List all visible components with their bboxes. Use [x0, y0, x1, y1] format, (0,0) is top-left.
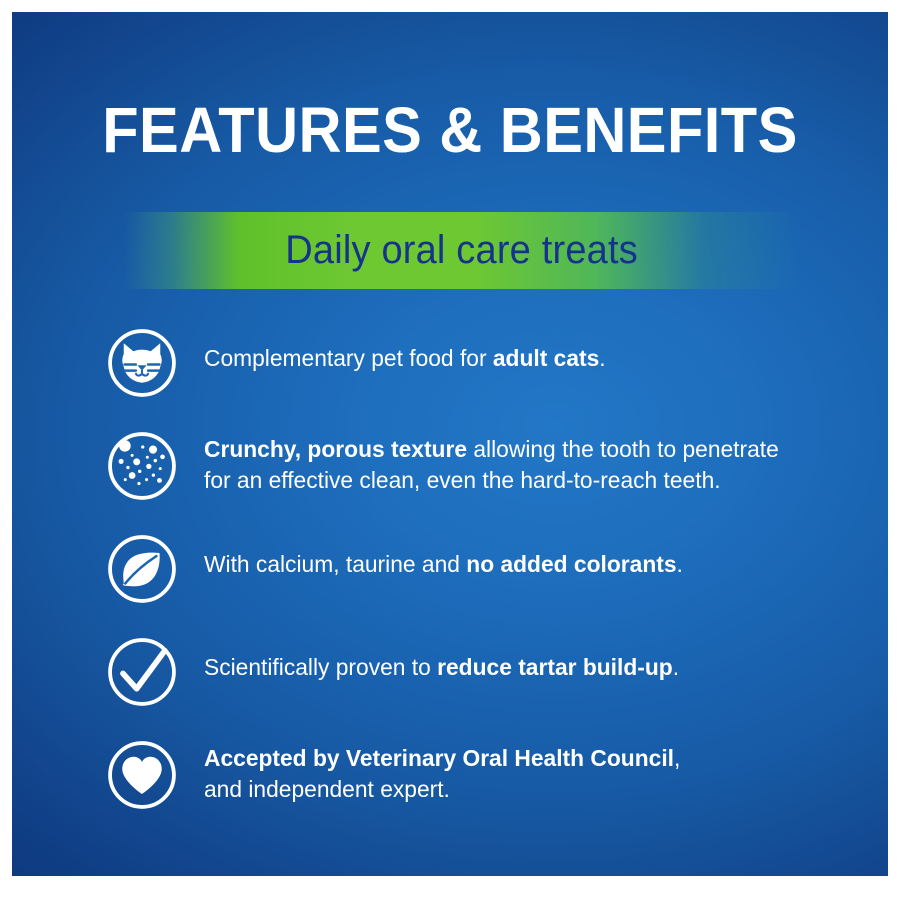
benefit-text-segment: and independent expert. [204, 776, 450, 802]
benefit-text: Scientifically proven to reduce tartar b… [204, 634, 679, 683]
leaf-icon [104, 531, 180, 607]
benefit-row: Complementary pet food for adult cats. [12, 325, 888, 401]
benefit-text-emphasis: Accepted by Veterinary Oral Health Counc… [204, 745, 674, 771]
benefit-text: With calcium, taurine and no added color… [204, 531, 683, 580]
subtitle-text: Daily oral care treats [286, 228, 639, 273]
benefit-text-line: Crunchy, porous texture allowing the too… [204, 434, 779, 465]
cat-face-icon [104, 325, 180, 401]
blue-panel-background: FEATURES & BENEFITS Daily oral care trea… [12, 12, 888, 876]
benefit-text-line: With calcium, taurine and no added color… [204, 549, 683, 580]
check-icon [104, 634, 180, 710]
benefit-row: Crunchy, porous texture allowing the too… [12, 428, 888, 504]
benefit-text-line: for an effective clean, even the hard-to… [204, 465, 779, 496]
benefit-text-segment: for an effective clean, even the hard-to… [204, 467, 721, 493]
benefit-text-emphasis: adult cats [493, 345, 599, 371]
page-title: FEATURES & BENEFITS [43, 98, 858, 162]
benefit-text-emphasis: reduce tartar build-up [437, 654, 673, 680]
benefit-text: Accepted by Veterinary Oral Health Counc… [204, 737, 680, 806]
benefit-text-segment: Complementary pet food for [204, 345, 493, 371]
benefit-text: Crunchy, porous texture allowing the too… [204, 428, 779, 497]
card-content: FEATURES & BENEFITS Daily oral care trea… [12, 12, 888, 876]
benefit-text-segment: . [677, 551, 683, 577]
feature-benefits-card: FEATURES & BENEFITS Daily oral care trea… [0, 0, 900, 900]
benefit-text-line: and independent expert. [204, 774, 680, 805]
benefit-text-segment: allowing the tooth to penetrate [467, 436, 779, 462]
porous-texture-icon [104, 428, 180, 504]
benefit-text-segment: , [674, 745, 680, 771]
benefit-text-segment: . [673, 654, 679, 680]
benefit-text: Complementary pet food for adult cats. [204, 325, 606, 374]
benefit-text-segment: With calcium, taurine and [204, 551, 466, 577]
benefit-text-emphasis: Crunchy, porous texture [204, 436, 467, 462]
benefit-row: With calcium, taurine and no added color… [12, 531, 888, 607]
benefit-text-segment: Scientifically proven to [204, 654, 437, 680]
benefit-text-line: Accepted by Veterinary Oral Health Counc… [204, 743, 680, 774]
subtitle-banner: Daily oral care treats [124, 212, 800, 289]
benefit-row: Scientifically proven to reduce tartar b… [12, 634, 888, 710]
benefits-list: Complementary pet food for adult cats.Cr… [12, 325, 888, 840]
benefit-row: Accepted by Veterinary Oral Health Counc… [12, 737, 888, 813]
benefit-text-emphasis: no added colorants [466, 551, 676, 577]
benefit-text-line: Scientifically proven to reduce tartar b… [204, 652, 679, 683]
benefit-text-line: Complementary pet food for adult cats. [204, 343, 606, 374]
benefit-text-segment: . [599, 345, 605, 371]
heart-icon [104, 737, 180, 813]
